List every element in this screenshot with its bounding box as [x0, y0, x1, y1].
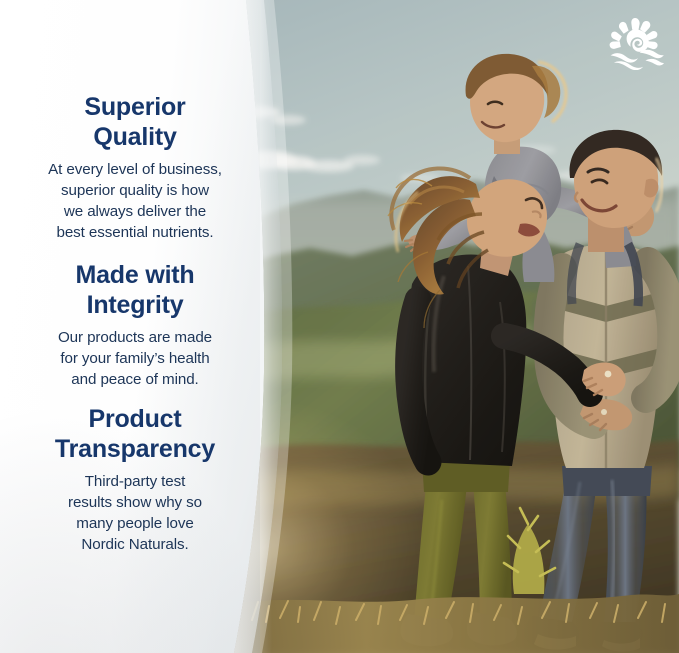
heading-line: Transparency — [17, 434, 253, 464]
promo-banner: Superior Quality At every level of busin… — [0, 0, 679, 653]
heading-line: Made with — [17, 260, 253, 290]
heading-line: Integrity — [17, 290, 253, 320]
heading-line: Quality — [17, 122, 253, 152]
body-line: and peace of mind. — [17, 369, 253, 390]
body-line: Third-party test — [17, 471, 253, 492]
body-line: results show why so — [17, 492, 253, 513]
heading-superior-quality: Superior Quality — [17, 92, 253, 152]
body-line: Nordic Naturals. — [17, 534, 253, 555]
value-props: Superior Quality At every level of busin… — [0, 0, 270, 653]
heading-made-with-integrity: Made with Integrity — [17, 260, 253, 320]
heading-product-transparency: Product Transparency — [17, 404, 253, 464]
body-line: for your family’s health — [17, 348, 253, 369]
lifestyle-photo — [232, 0, 679, 653]
body-product-transparency: Third-party test results show why so man… — [17, 471, 253, 555]
sun-wave-logo-icon — [605, 14, 667, 70]
body-line: superior quality is how — [17, 180, 253, 201]
value-prop-product-transparency: Product Transparency Third-party test re… — [17, 404, 253, 555]
photo-scene — [232, 0, 679, 653]
body-made-with-integrity: Our products are made for your family’s … — [17, 327, 253, 390]
warm-grade — [232, 0, 679, 653]
body-line: Our products are made — [17, 327, 253, 348]
body-line: many people love — [17, 513, 253, 534]
body-line: best essential nutrients. — [17, 222, 253, 243]
heading-line: Product — [17, 404, 253, 434]
body-line: we always deliver the — [17, 201, 253, 222]
value-prop-made-with-integrity: Made with Integrity Our products are mad… — [17, 260, 253, 390]
heading-line: Superior — [17, 92, 253, 122]
body-line: At every level of business, — [17, 159, 253, 180]
value-prop-superior-quality: Superior Quality At every level of busin… — [17, 92, 253, 243]
body-superior-quality: At every level of business, superior qua… — [17, 159, 253, 243]
nordic-naturals-logo — [605, 14, 667, 70]
